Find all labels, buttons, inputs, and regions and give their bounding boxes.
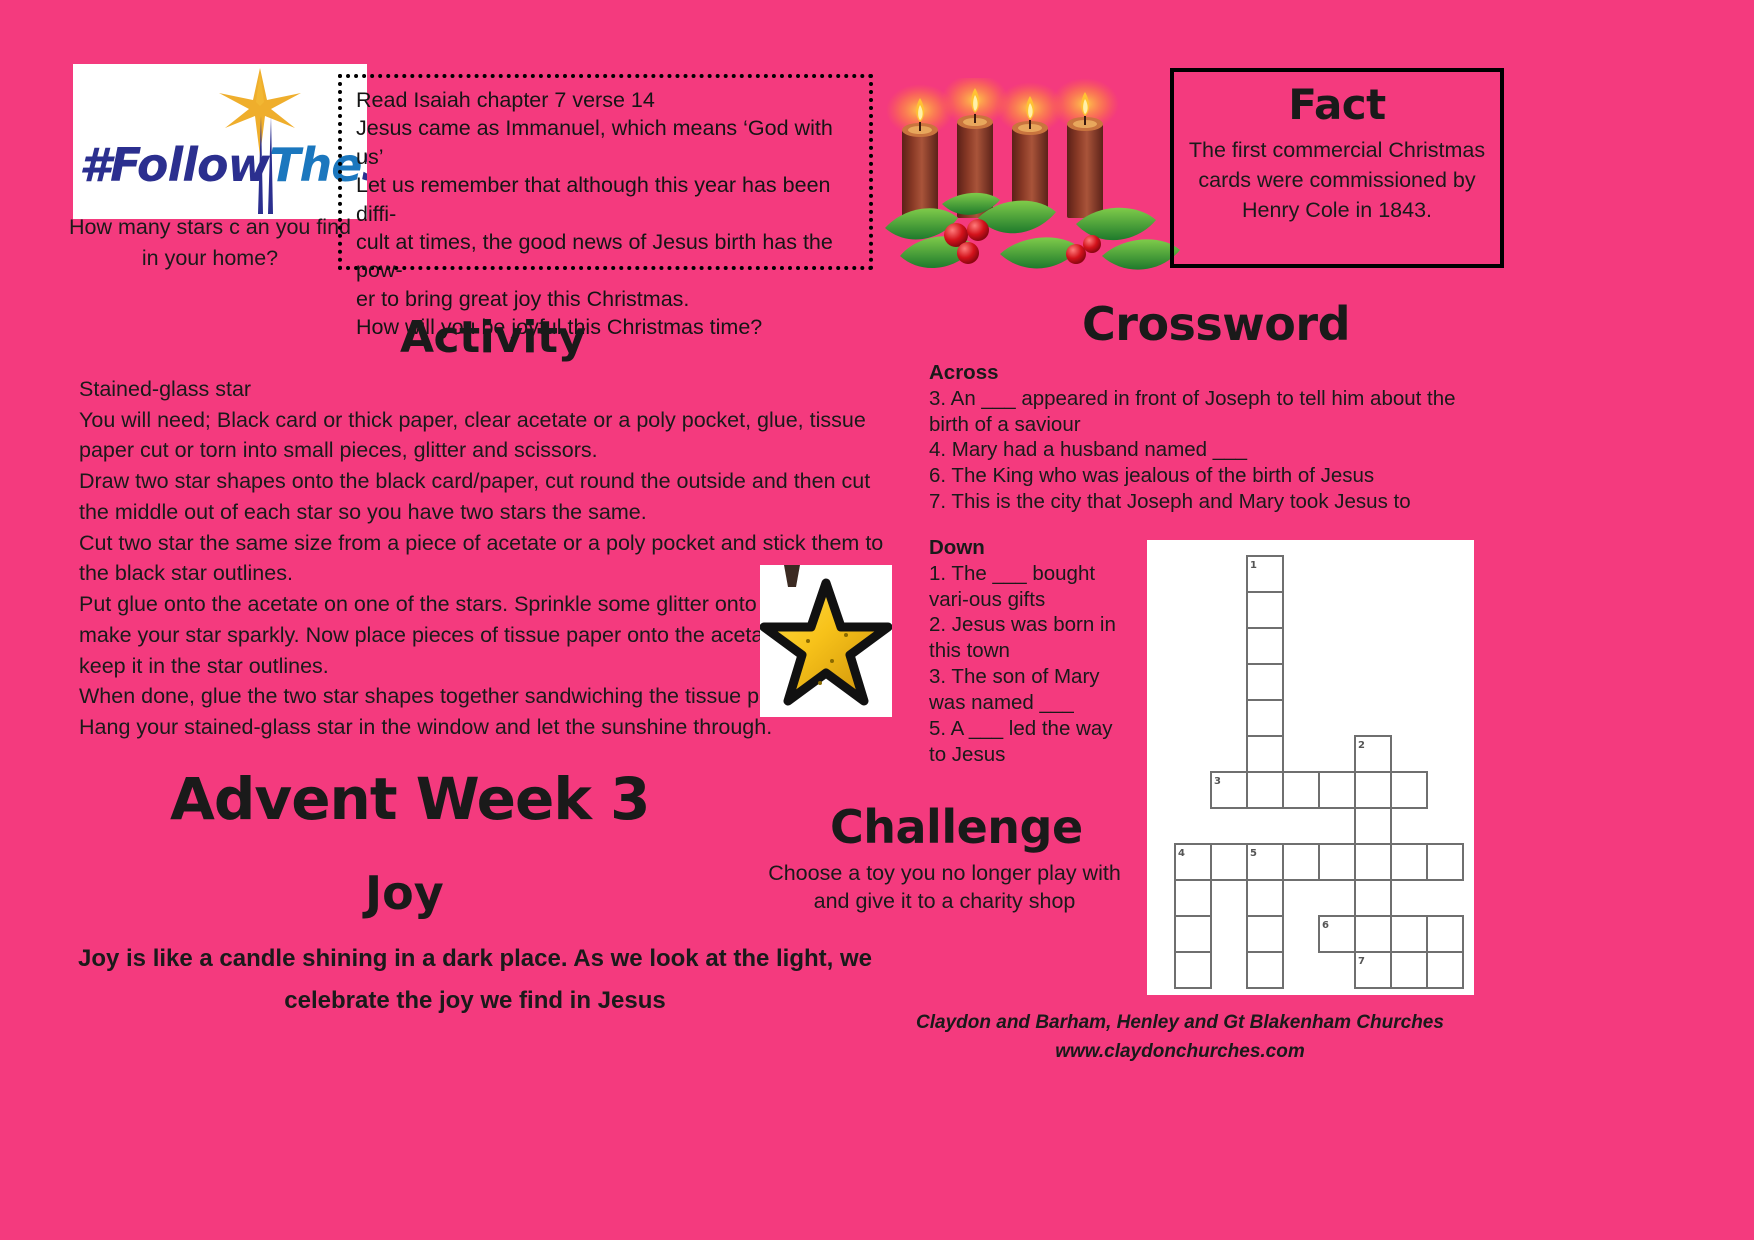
- grid-number-5: 5: [1250, 848, 1257, 859]
- crossword-heading: Crossword: [1082, 297, 1350, 351]
- stained-glass-star-photo: [760, 565, 892, 717]
- down-clue-1: 1. The ___ bought vari-ous gifts: [929, 561, 1134, 613]
- isaiah-reading-text: Read Isaiah chapter 7 verse 14 Jesus cam…: [356, 86, 857, 341]
- across-clue-7: 7. This is the city that Joseph and Mary…: [929, 489, 1489, 515]
- down-clue-5: 5. A ___ led the way to Jesus: [929, 716, 1134, 768]
- fact-box: Fact The first commercial Christmas card…: [1170, 68, 1504, 268]
- fact-title: Fact: [1188, 82, 1486, 128]
- grid-number-4: 4: [1178, 848, 1185, 859]
- activity-heading: Activity: [400, 312, 580, 363]
- isaiah-reading-box: Read Isaiah chapter 7 verse 14 Jesus cam…: [338, 74, 873, 270]
- stars-question-caption: How many stars c an you find in your hom…: [60, 212, 360, 274]
- across-label: Across: [929, 360, 1489, 386]
- logo-hash: #: [79, 138, 110, 192]
- advent-week-title: Advent Week 3: [170, 765, 649, 833]
- logo-ll: ll: [167, 138, 197, 192]
- grid-number-7: 7: [1358, 956, 1365, 967]
- fact-body: The first commercial Christmas cards wer…: [1188, 136, 1486, 225]
- down-label: Down: [929, 535, 1134, 561]
- grid-number-2: 2: [1358, 740, 1365, 751]
- challenge-text: Choose a toy you no longer play with and…: [752, 860, 1137, 916]
- down-clue-2: 2. Jesus was born in this town: [929, 612, 1134, 664]
- grid-number-1: 1: [1250, 560, 1257, 571]
- follow-the-star-logo: #FollowTheStar: [73, 64, 367, 219]
- crossword-across-clues: Across 3. An ___ appeared in front of Jo…: [929, 360, 1489, 515]
- joy-heading: Joy: [365, 866, 444, 920]
- down-clue-3: 3. The son of Mary was named ___: [929, 664, 1134, 716]
- across-clue-6: 6. The King who was jealous of the birth…: [929, 463, 1489, 489]
- crossword-down-clues: Down 1. The ___ bought vari-ous gifts 2.…: [929, 535, 1134, 767]
- joy-verse-text: Joy is like a candle shining in a dark p…: [60, 938, 890, 1022]
- advent-candles-illustration: [880, 78, 1190, 278]
- logo-wordmark: #FollowTheStar: [79, 142, 367, 188]
- across-clue-3: 3. An ___ appeared in front of Joseph to…: [929, 386, 1489, 438]
- footer-website[interactable]: www.claydonchurches.com: [860, 1037, 1500, 1066]
- across-clue-4: 4. Mary had a husband named ___: [929, 437, 1489, 463]
- poster-page: #FollowTheStar How many stars c an you f…: [0, 0, 1754, 1240]
- challenge-heading: Challenge: [830, 800, 1083, 854]
- crossword-grid-panel[interactable]: 1 2 3 4 5 6 7: [1147, 540, 1474, 995]
- logo-fo: Fo: [110, 138, 167, 192]
- footer: Claydon and Barham, Henley and Gt Blaken…: [860, 1008, 1500, 1067]
- grid-number-3: 3: [1214, 776, 1221, 787]
- crossword-grid[interactable]: 1 2 3 4 5 6 7: [1147, 540, 1474, 995]
- grid-number-6: 6: [1322, 920, 1329, 931]
- footer-churches: Claydon and Barham, Henley and Gt Blaken…: [860, 1008, 1500, 1037]
- logo-ow: ow: [197, 138, 269, 192]
